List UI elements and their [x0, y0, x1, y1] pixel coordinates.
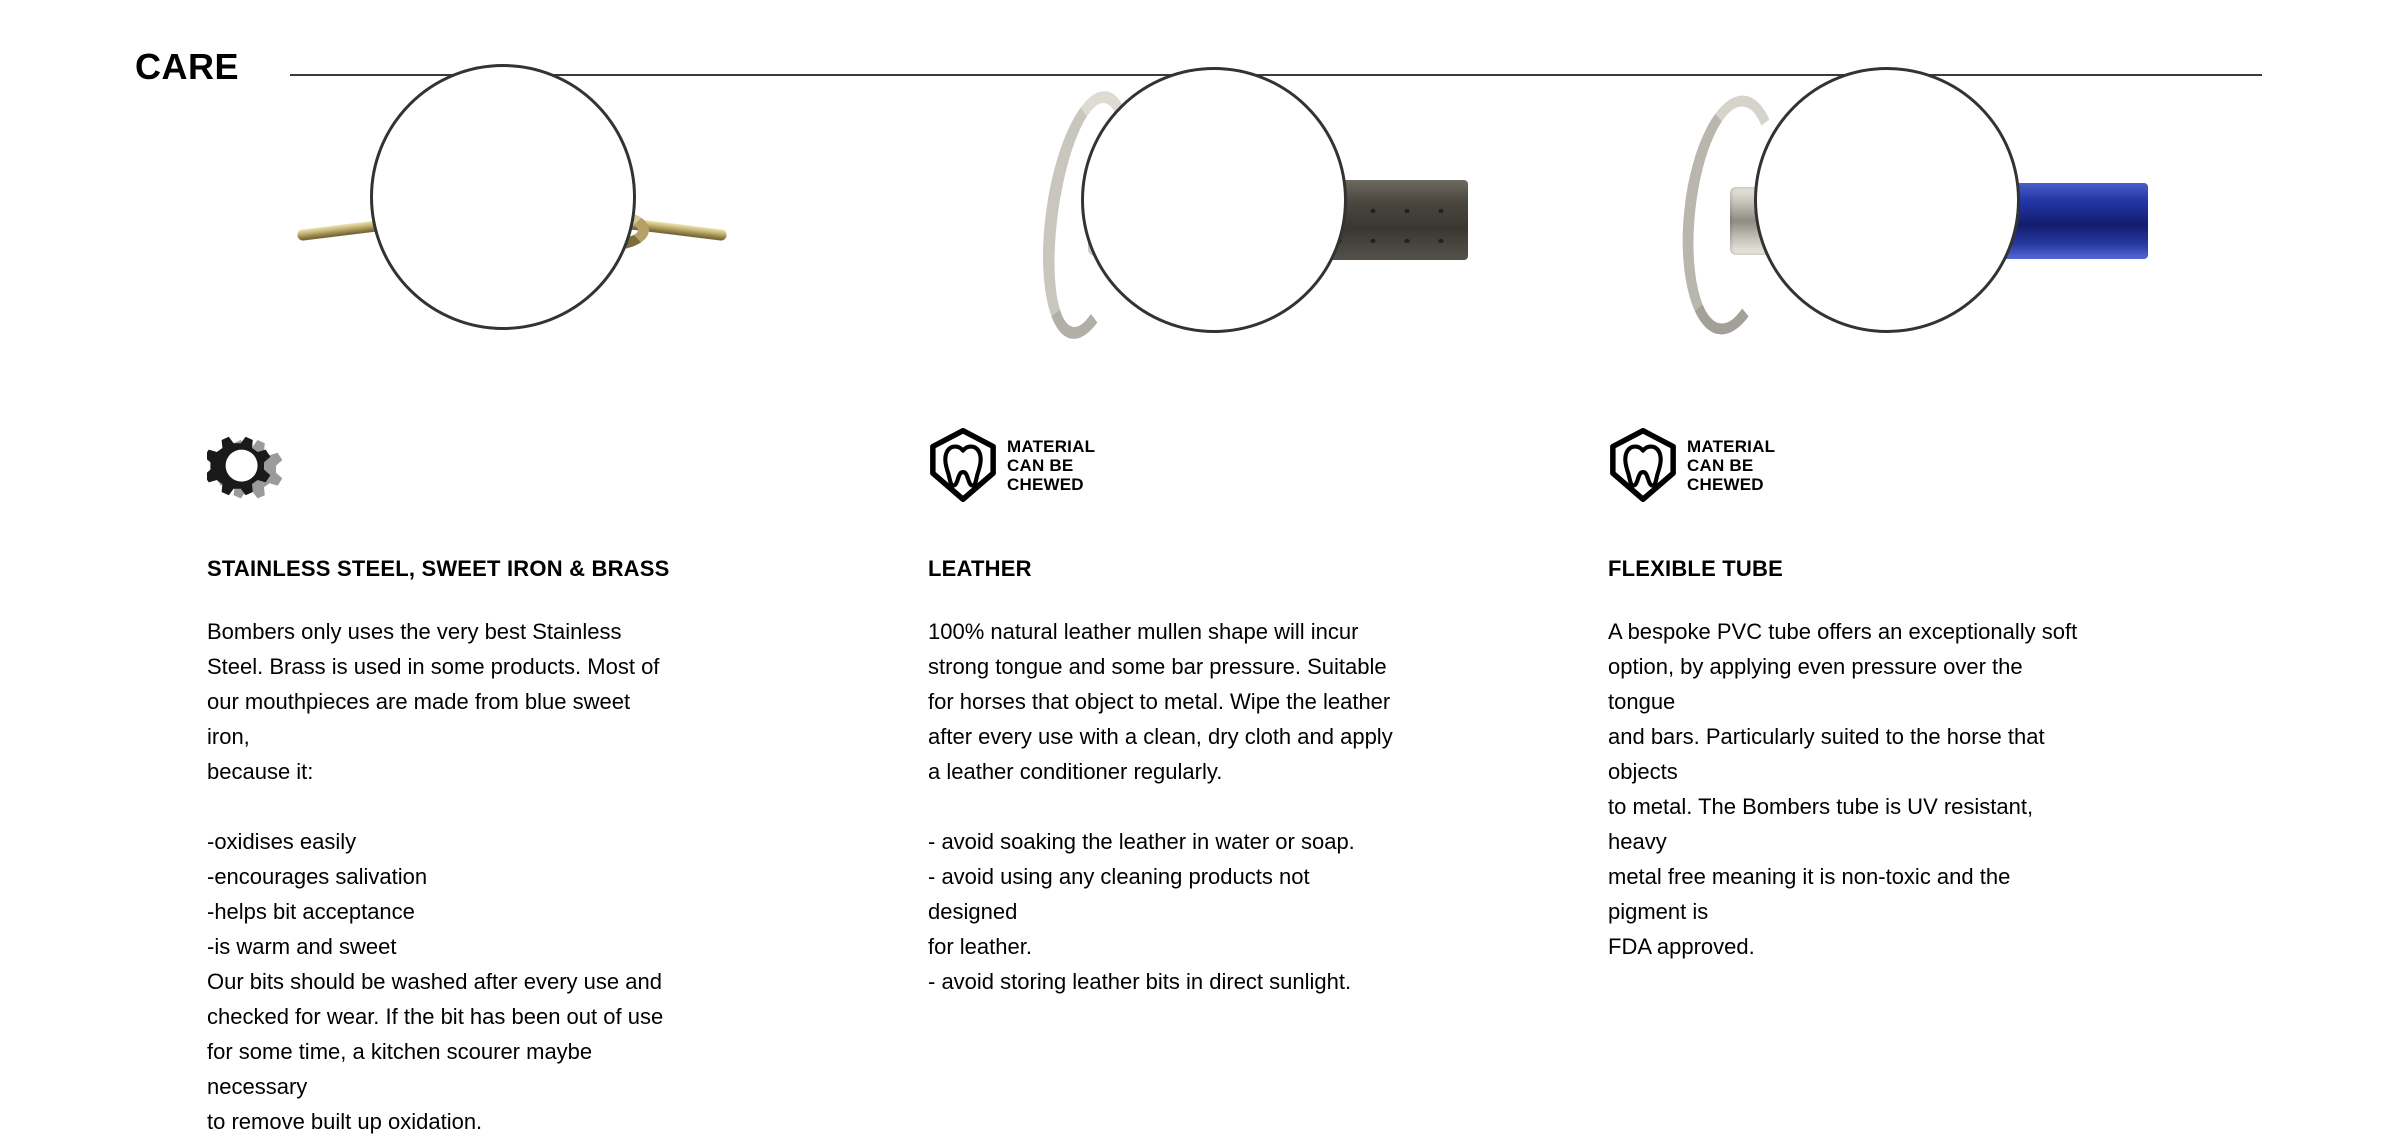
column-body-flexible-tube: A bespoke PVC tube offers an exceptional… — [1608, 614, 2078, 964]
page-title: CARE — [135, 47, 239, 87]
header-divider — [290, 74, 2262, 76]
badge-stainless — [207, 424, 289, 504]
photo-ring-leather — [1081, 67, 1347, 333]
column-heading-flexible-tube: FLEXIBLE TUBE — [1608, 556, 1783, 582]
column-body-stainless: Bombers only uses the very best Stainles… — [207, 614, 677, 1139]
badge-text-leather: MATERIAL CAN BE CHEWED — [1007, 437, 1095, 494]
badge-line-3: CHEWED — [1687, 475, 1775, 494]
gear-icon — [207, 424, 289, 504]
badge-line-1: MATERIAL — [1687, 437, 1775, 456]
shield-tooth-icon — [928, 428, 998, 502]
photo-ring-flexible-tube — [1754, 67, 2020, 333]
badge-line-2: CAN BE — [1687, 456, 1775, 475]
badge-text-flexible-tube: MATERIAL CAN BE CHEWED — [1687, 437, 1775, 494]
care-page: CARE — [0, 0, 2400, 1135]
badge-line-1: MATERIAL — [1007, 437, 1095, 456]
shield-tooth-icon — [1608, 428, 1678, 502]
badge-line-3: CHEWED — [1007, 475, 1095, 494]
badge-flexible-tube: MATERIAL CAN BE CHEWED — [1608, 428, 1775, 502]
column-body-leather: 100% natural leather mullen shape will i… — [928, 614, 1398, 999]
column-heading-leather: LEATHER — [928, 556, 1032, 582]
badge-leather: MATERIAL CAN BE CHEWED — [928, 428, 1095, 502]
photo-ring-stainless — [370, 64, 636, 330]
badge-line-2: CAN BE — [1007, 456, 1095, 475]
column-heading-stainless: STAINLESS STEEL, SWEET IRON & BRASS — [207, 556, 670, 582]
